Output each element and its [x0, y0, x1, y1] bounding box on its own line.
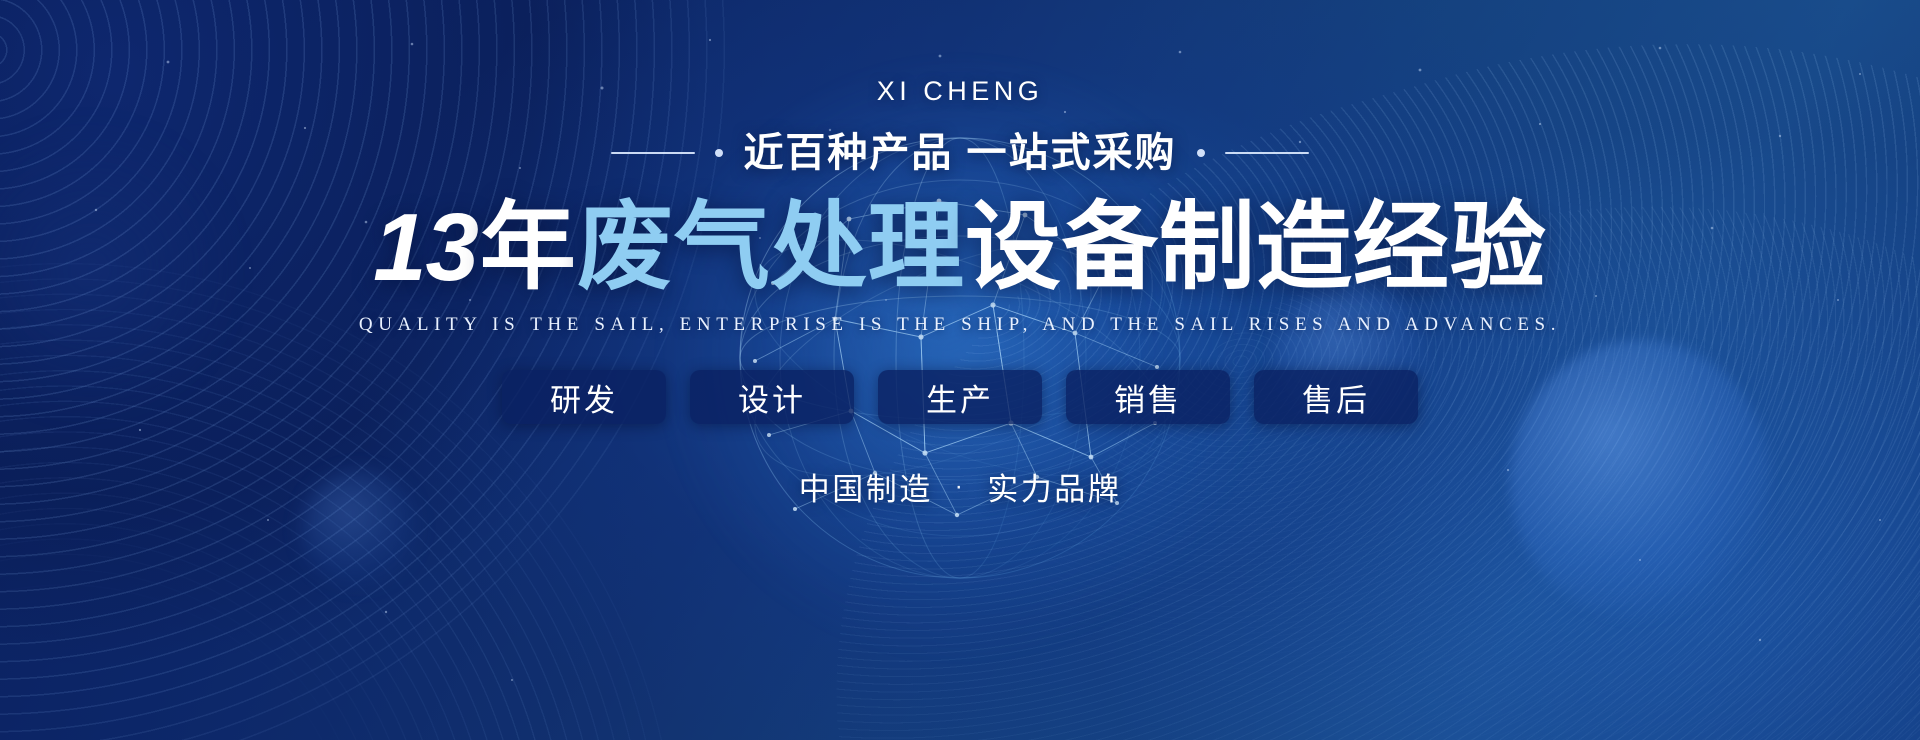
banner-content: XI CHENG 近百种产品 一站式采购 13年废气处理设备制造经验 QUALI…: [0, 0, 1920, 740]
decorative-line-right-icon: [1225, 152, 1309, 154]
decorative-line-left-icon: [611, 152, 695, 154]
footer-slogan-right: 实力品牌: [987, 464, 1121, 509]
pill-sales[interactable]: 销售: [1066, 370, 1230, 424]
headline: 13年废气处理设备制造经验: [373, 193, 1547, 302]
pill-after-sales[interactable]: 售后: [1254, 370, 1418, 424]
pill-production[interactable]: 生产: [878, 370, 1042, 424]
pill-rd[interactable]: 研发: [502, 370, 666, 424]
subtitle-row: 近百种产品 一站式采购: [611, 133, 1308, 173]
headline-number: 13: [373, 194, 480, 301]
footer-slogan: 中国制造 · 实力品牌: [799, 464, 1122, 509]
footer-separator-icon: ·: [955, 473, 966, 501]
headline-tail: 设备制造经验: [965, 194, 1547, 301]
decorative-dot-left-icon: [715, 149, 723, 157]
decorative-dot-right-icon: [1197, 149, 1205, 157]
pill-design[interactable]: 设计: [690, 370, 854, 424]
brand-name-en: XI CHENG: [877, 78, 1044, 105]
hero-banner: XI CHENG 近百种产品 一站式采购 13年废气处理设备制造经验 QUALI…: [0, 0, 1920, 740]
footer-slogan-left: 中国制造: [799, 464, 933, 509]
headline-unit: 年: [480, 194, 577, 301]
headline-accent: 废气处理: [577, 194, 965, 301]
tagline-english: QUALITY IS THE SAIL, ENTERPRISE IS THE S…: [359, 314, 1561, 336]
subtitle-text: 近百种产品 一站式采购: [743, 133, 1176, 173]
service-pill-list: 研发 设计 生产 销售 售后: [502, 370, 1418, 424]
